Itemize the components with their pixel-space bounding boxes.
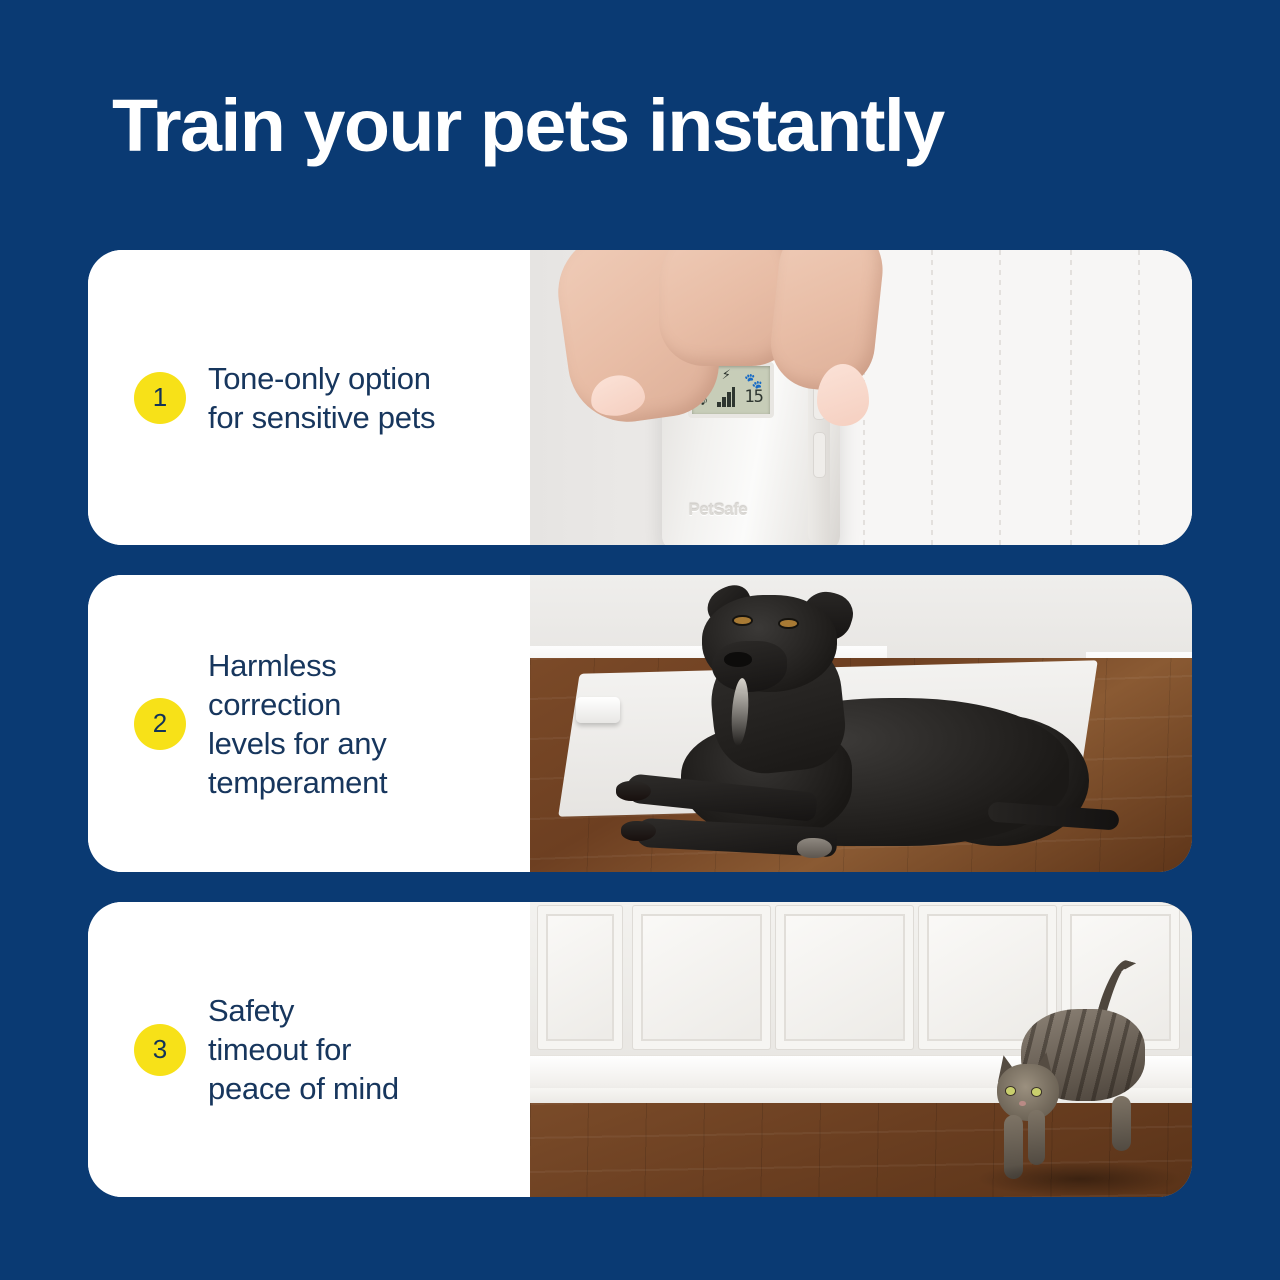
step-number-badge-2: 2 (134, 698, 186, 750)
cat-eye-left (1006, 1087, 1015, 1095)
thumbnail (588, 372, 647, 419)
hand-gripping-remote (563, 250, 973, 430)
dog-eye-right (780, 620, 797, 627)
feature-card-1-text: 1 Tone-only option for sensitive pets (88, 250, 530, 545)
photo2-white-device (576, 697, 620, 723)
dog-paw-3 (797, 838, 832, 858)
photo-cat-by-cabinets (530, 902, 1192, 1197)
feature-card-list: 1 Tone-only option for sensitive pets ♪ … (88, 250, 1192, 1197)
cabinet-panel (775, 905, 914, 1050)
feature-card-2-text: 2 Harmless correction levels for any tem… (88, 575, 530, 872)
dog-nose (724, 652, 752, 666)
tabby-cat (987, 958, 1159, 1188)
cat-shadow (976, 1161, 1183, 1197)
feature-card-1: 1 Tone-only option for sensitive pets ♪ … (88, 250, 1192, 545)
page-title: Train your pets instantly (112, 86, 1214, 166)
feature-card-2-copy: Harmless correction levels for any tempe… (208, 646, 387, 802)
feature-card-1-copy: Tone-only option for sensitive pets (208, 359, 435, 437)
dog-muzzle (712, 641, 787, 692)
feature-card-3-copy: Safety timeout for peace of mind (208, 991, 399, 1108)
remote-button-lower (813, 432, 826, 478)
petsafe-logo: PetSafe (688, 500, 747, 520)
cat-eye-right (1032, 1088, 1041, 1096)
feature-card-3: 3 Safety timeout for peace of mind (88, 902, 1192, 1197)
cabinet-panel (632, 905, 771, 1050)
dog-paw-2 (621, 821, 656, 841)
black-dog (616, 584, 1119, 869)
cabinet-panel (537, 905, 623, 1050)
photo-hand-holding-remote: ♪ ⚡ 🐾 15 PetSafe (530, 250, 1192, 545)
step-number-badge-1: 1 (134, 372, 186, 424)
cat-foreleg-right (1028, 1110, 1045, 1165)
cat-hind-leg (1112, 1096, 1131, 1151)
dog-paw-1 (616, 781, 651, 801)
feature-card-2: 2 Harmless correction levels for any tem… (88, 575, 1192, 872)
step-number-badge-3: 3 (134, 1024, 186, 1076)
photo-dog-on-floor (530, 575, 1192, 872)
infographic-page: Train your pets instantly 1 Tone-only op… (0, 0, 1280, 1280)
feature-card-3-text: 3 Safety timeout for peace of mind (88, 902, 530, 1197)
